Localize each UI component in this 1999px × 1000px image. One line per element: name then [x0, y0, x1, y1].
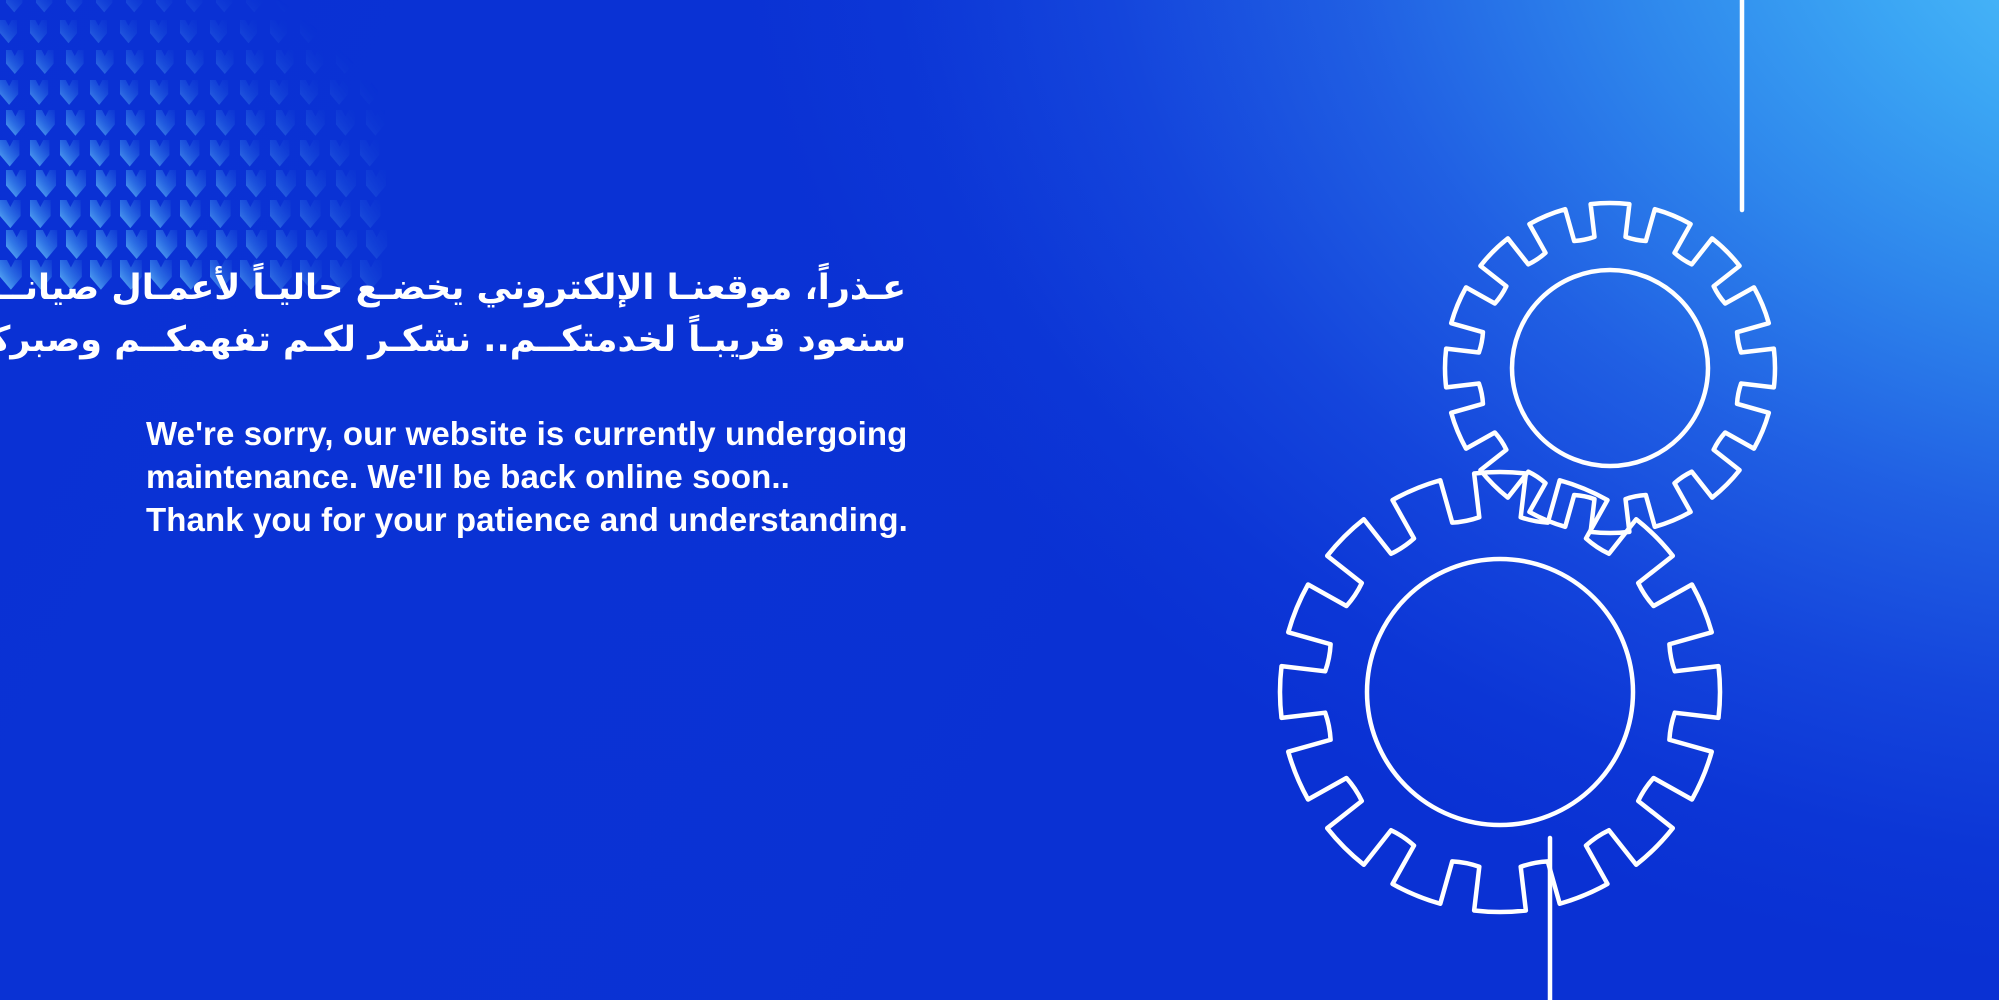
- arabic-message: عـذراً، موقعنـا الإلكتروني يخضـع حاليـاً…: [146, 262, 906, 366]
- arabic-line-2: سنعود قريبـاً لخدمتكــم.. نشكـر لكـم تفه…: [146, 314, 906, 366]
- arabic-line-1: عـذراً، موقعنـا الإلكتروني يخضـع حاليـاً…: [146, 262, 906, 314]
- english-message: We're sorry, our website is currently un…: [146, 412, 906, 541]
- english-line-3: Thank you for your patience and understa…: [146, 498, 906, 541]
- english-line-1: We're sorry, our website is currently un…: [146, 412, 906, 455]
- english-line-2: maintenance. We'll be back online soon..: [146, 455, 906, 498]
- maintenance-message: عـذراً، موقعنـا الإلكتروني يخضـع حاليـاً…: [146, 262, 906, 541]
- maintenance-page: عـذراً، موقعنـا الإلكتروني يخضـع حاليـاً…: [0, 0, 1999, 1000]
